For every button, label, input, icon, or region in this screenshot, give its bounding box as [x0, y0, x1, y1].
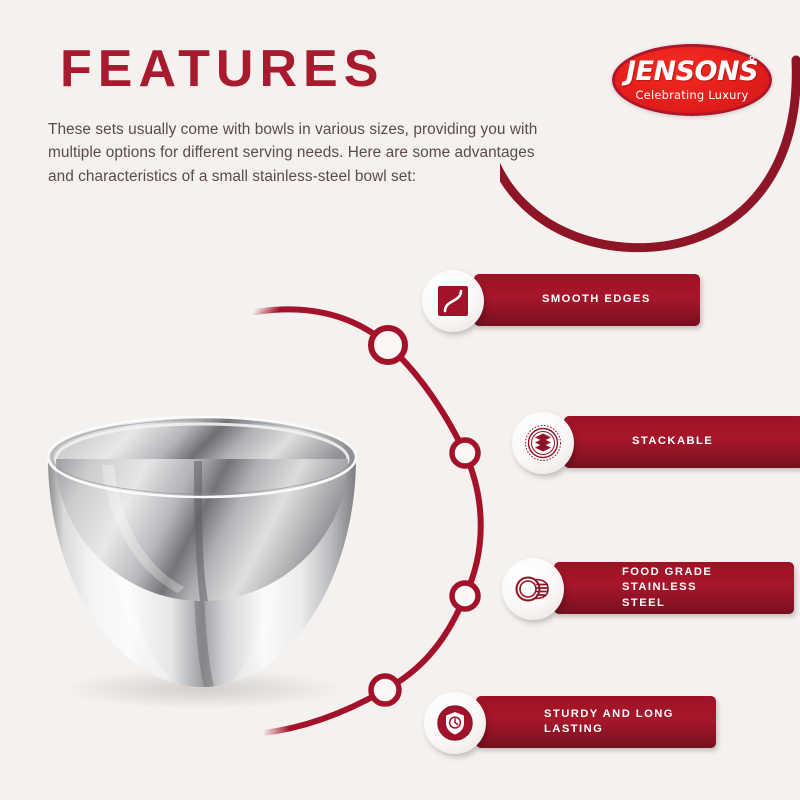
smooth-edges-icon [436, 284, 470, 318]
brand-logo: JENSONS R Celebrating Luxury [612, 44, 772, 116]
feature-badge [512, 412, 574, 474]
infographic-canvas: FEATURES These sets usually come with bo… [0, 0, 800, 800]
page-title: FEATURES [60, 43, 384, 95]
feature-bar[interactable]: STACKABLE [564, 416, 800, 468]
feature-label: STURDY AND LONG LASTING [476, 707, 688, 737]
logo-wordmark: JENSONS [612, 58, 772, 85]
food-grade-icon [513, 569, 553, 609]
stackable-icon [524, 424, 562, 462]
connector-node [371, 328, 405, 362]
feature-label: SMOOTH EDGES [474, 292, 665, 307]
feature-bar[interactable]: FOOD GRADE STAINLESS STEEL [554, 562, 794, 614]
feature-label: FOOD GRADE STAINLESS STEEL [554, 565, 794, 610]
connector-node [371, 676, 399, 704]
feature-bar[interactable]: SMOOTH EDGES [474, 274, 700, 326]
stainless-steel-bowl-image [42, 415, 362, 715]
connector-node [452, 583, 478, 609]
feature-badge [422, 270, 484, 332]
registered-trademark-icon: R [749, 55, 755, 64]
connector-node [452, 440, 478, 466]
sturdy-long-lasting-icon [433, 701, 477, 745]
logo-tagline: Celebrating Luxury [612, 88, 772, 102]
feature-badge [424, 692, 486, 754]
feature-badge [502, 558, 564, 620]
feature-label: STACKABLE [564, 434, 727, 449]
intro-paragraph: These sets usually come with bowls in va… [48, 118, 538, 188]
corner-arc-decoration [500, 0, 800, 260]
feature-bar[interactable]: STURDY AND LONG LASTING [476, 696, 716, 748]
